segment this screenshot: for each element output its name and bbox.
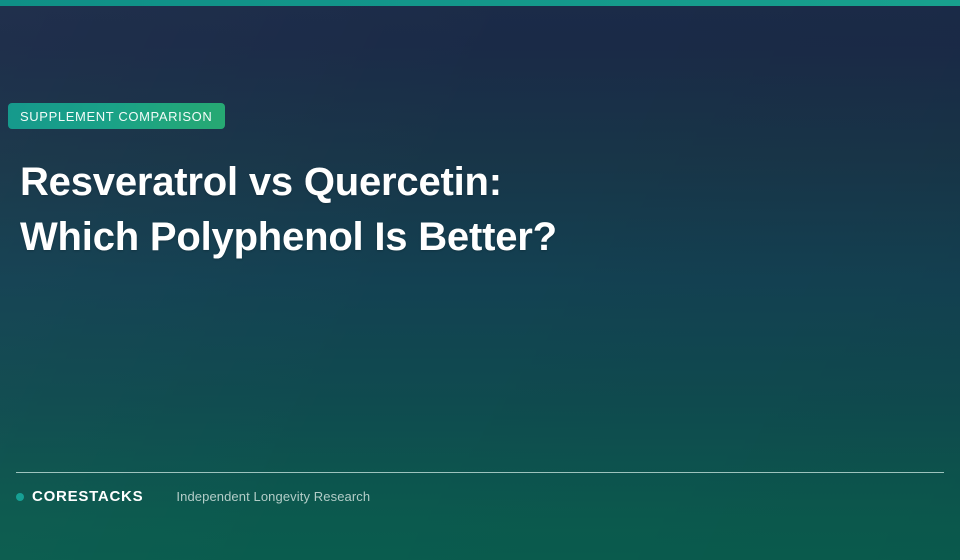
page-title: Resveratrol vs Quercetin: Which Polyphen… [20, 155, 557, 265]
footer: CORESTACKS Independent Longevity Researc… [16, 488, 370, 505]
page-title-line-2: Which Polyphenol Is Better? [20, 210, 557, 265]
footer-divider [16, 472, 944, 473]
brand-tagline: Independent Longevity Research [176, 489, 370, 504]
eyebrow-badge: SUPPLEMENT COMPARISON [8, 103, 225, 129]
title-slide: SUPPLEMENT COMPARISON Resveratrol vs Que… [0, 0, 960, 560]
brand-name: CORESTACKS [32, 488, 143, 505]
brand-dot-icon [16, 493, 24, 501]
page-title-line-1: Resveratrol vs Quercetin: [20, 155, 557, 210]
top-accent-bar [0, 0, 960, 6]
eyebrow-badge-label: SUPPLEMENT COMPARISON [20, 110, 212, 123]
